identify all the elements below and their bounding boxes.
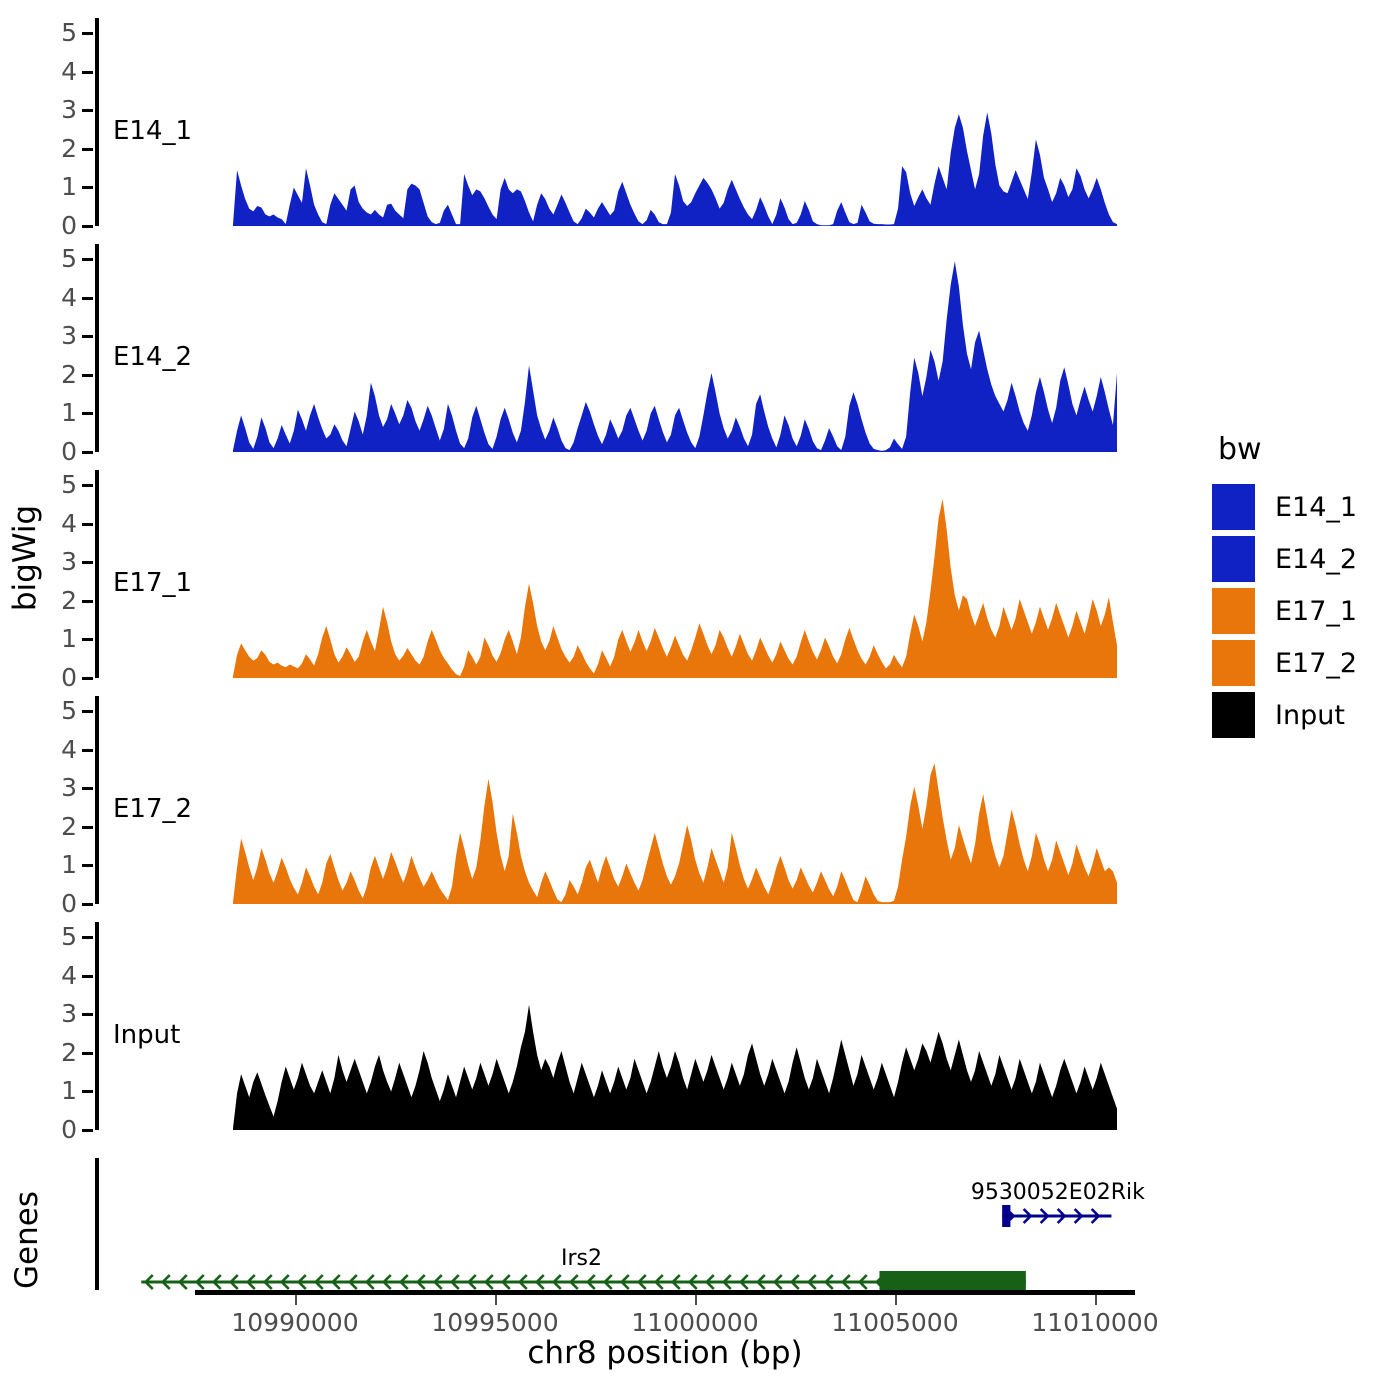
- legend-item-e17_2[interactable]: E17_2: [1212, 637, 1392, 689]
- genes-axis-title: Genes: [9, 1175, 45, 1305]
- y-tick: [82, 1129, 93, 1132]
- signal-area-e17_2: [99, 696, 1130, 904]
- y-tick: [82, 561, 93, 564]
- y-tick: [82, 975, 93, 978]
- y-tick-label: 4: [39, 59, 77, 84]
- y-tick: [82, 903, 93, 906]
- y-tick: [82, 710, 93, 713]
- legend-swatch: [1212, 640, 1255, 686]
- y-tick-label: 5: [39, 20, 77, 45]
- legend-title: bw: [1218, 432, 1392, 467]
- y-tick-label: 3: [39, 323, 77, 348]
- x-axis-line: [195, 1290, 1135, 1295]
- y-tick: [82, 412, 93, 415]
- y-tick-label: 3: [39, 97, 77, 122]
- x-tick: [295, 1295, 297, 1305]
- track-panel-e17_1: 012345E17_1: [95, 470, 1130, 678]
- y-tick: [82, 148, 93, 151]
- y-tick: [82, 1013, 93, 1016]
- genes-track-panel: [95, 1158, 1130, 1290]
- y-tick-label: 1: [39, 852, 77, 877]
- y-tick: [82, 826, 93, 829]
- legend-item-e14_2[interactable]: E14_2: [1212, 533, 1392, 585]
- gene-model[interactable]: [1002, 1205, 1111, 1227]
- x-tick-label: 11000000: [631, 1308, 758, 1337]
- y-tick: [82, 677, 93, 680]
- x-axis-title: chr8 position (bp): [195, 1335, 1135, 1371]
- track-panel-e17_2: 012345E17_2: [95, 696, 1130, 904]
- y-tick: [82, 936, 93, 939]
- y-tick: [82, 749, 93, 752]
- y-tick-label: 2: [39, 1040, 77, 1065]
- bigwig-axis-title: bigWig: [7, 478, 43, 638]
- y-tick: [82, 32, 93, 35]
- y-tick-label: 4: [39, 285, 77, 310]
- legend-label: E14_2: [1275, 544, 1357, 575]
- y-tick-label: 5: [39, 472, 77, 497]
- y-tick-label: 2: [39, 588, 77, 613]
- y-tick-label: 0: [39, 891, 77, 916]
- y-tick-label: 2: [39, 136, 77, 161]
- signal-area-input: [99, 922, 1130, 1130]
- genes-track-svg: [99, 1158, 1130, 1290]
- signal-area-e14_2: [99, 244, 1130, 452]
- y-tick: [82, 523, 93, 526]
- y-tick-label: 0: [39, 439, 77, 464]
- y-tick-label: 5: [39, 924, 77, 949]
- x-tick-label: 11010000: [1031, 1308, 1158, 1337]
- signal-area-e17_1: [99, 470, 1130, 678]
- x-tick-label: 11005000: [831, 1308, 958, 1337]
- y-tick-label: 2: [39, 362, 77, 387]
- y-tick-label: 1: [39, 626, 77, 651]
- y-tick: [82, 787, 93, 790]
- y-tick-label: 3: [39, 775, 77, 800]
- x-tick: [1095, 1295, 1097, 1305]
- legend-swatch: [1212, 692, 1255, 738]
- y-tick: [82, 225, 93, 228]
- gene-label-Irs2: Irs2: [561, 1246, 602, 1271]
- track-panel-e14_2: 012345E14_2: [95, 244, 1130, 452]
- y-tick-label: 2: [39, 814, 77, 839]
- y-tick: [82, 71, 93, 74]
- y-tick-label: 4: [39, 737, 77, 762]
- x-tick: [695, 1295, 697, 1305]
- signal-area-e14_1: [99, 18, 1130, 226]
- y-tick-label: 0: [39, 1117, 77, 1142]
- y-tick: [82, 600, 93, 603]
- gene-exon-block: [1002, 1205, 1010, 1227]
- y-tick: [82, 484, 93, 487]
- legend: bw E14_1E14_2E17_1E17_2Input: [1212, 432, 1392, 741]
- y-tick-label: 1: [39, 400, 77, 425]
- gene-label-9530052E02Rik: 9530052E02Rik: [971, 1180, 1145, 1205]
- x-tick-label: 10995000: [431, 1308, 558, 1337]
- x-tick-label: 10990000: [231, 1308, 358, 1337]
- legend-items: E14_1E14_2E17_1E17_2Input: [1212, 481, 1392, 741]
- y-tick-label: 4: [39, 963, 77, 988]
- legend-item-e17_1[interactable]: E17_1: [1212, 585, 1392, 637]
- legend-label: E17_2: [1275, 648, 1357, 679]
- y-tick: [82, 374, 93, 377]
- legend-label: Input: [1275, 700, 1345, 731]
- legend-swatch: [1212, 536, 1255, 582]
- y-tick-label: 3: [39, 549, 77, 574]
- y-tick-label: 1: [39, 1078, 77, 1103]
- y-tick: [82, 109, 93, 112]
- y-tick: [82, 258, 93, 261]
- y-tick-label: 3: [39, 1001, 77, 1026]
- y-tick: [82, 297, 93, 300]
- track-panel-e14_1: 012345E14_1: [95, 18, 1130, 226]
- legend-item-input[interactable]: Input: [1212, 689, 1392, 741]
- y-tick-label: 0: [39, 665, 77, 690]
- legend-label: E14_1: [1275, 492, 1357, 523]
- x-tick: [495, 1295, 497, 1305]
- track-panel-input: 012345Input: [95, 922, 1130, 1130]
- y-tick-label: 5: [39, 698, 77, 723]
- x-tick: [895, 1295, 897, 1305]
- y-tick-label: 0: [39, 213, 77, 238]
- gene-exon-block: [879, 1271, 1025, 1290]
- gene-model[interactable]: [141, 1271, 1026, 1290]
- y-tick-label: 1: [39, 174, 77, 199]
- legend-swatch: [1212, 588, 1255, 634]
- y-tick: [82, 1090, 93, 1093]
- y-tick: [82, 335, 93, 338]
- legend-swatch: [1212, 484, 1255, 530]
- y-tick-label: 5: [39, 246, 77, 271]
- figure-root: bigWig Genes 012345E14_1012345E14_201234…: [0, 0, 1400, 1400]
- y-tick: [82, 864, 93, 867]
- y-tick: [82, 1052, 93, 1055]
- y-tick: [82, 451, 93, 454]
- legend-item-e14_1[interactable]: E14_1: [1212, 481, 1392, 533]
- y-tick: [82, 186, 93, 189]
- y-tick-label: 4: [39, 511, 77, 536]
- y-tick: [82, 638, 93, 641]
- legend-label: E17_1: [1275, 596, 1357, 627]
